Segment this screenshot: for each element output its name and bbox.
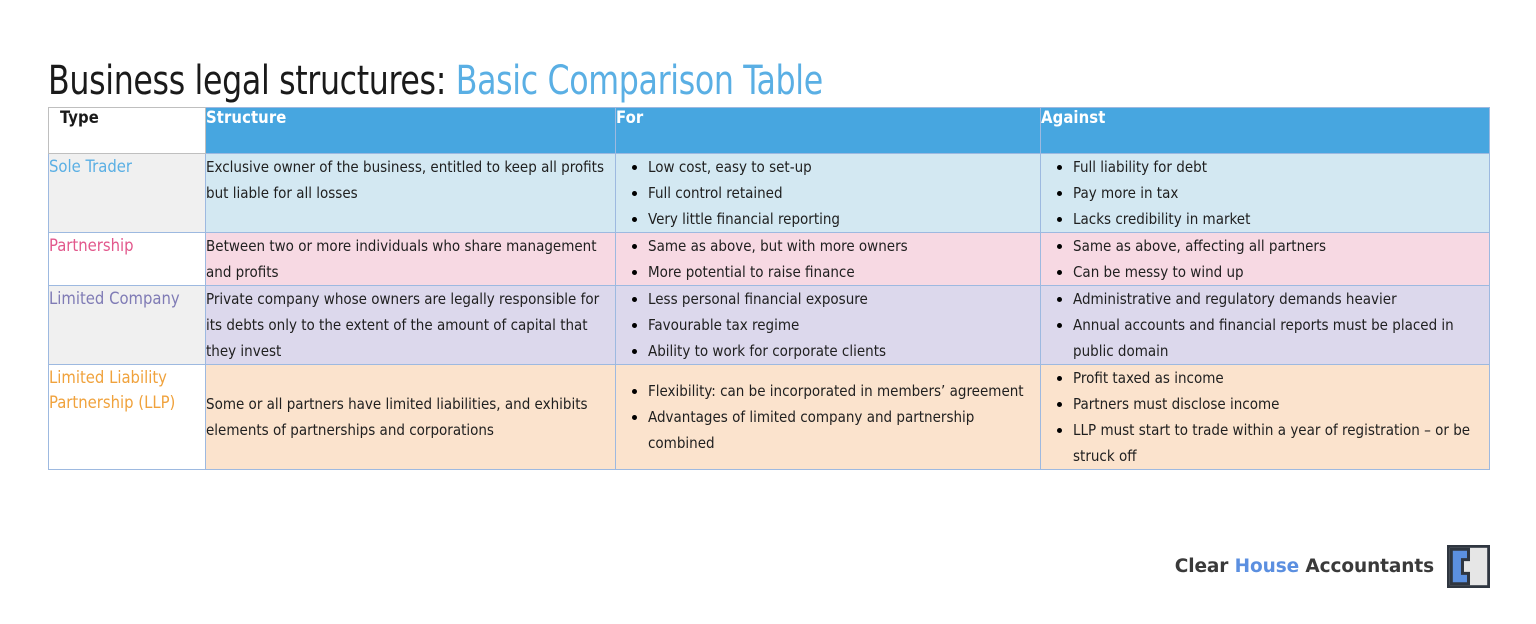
cell-against-partnership: Same as above, affecting all partners Ca… xyxy=(1041,233,1490,286)
list-item: Advantages of limited company and partne… xyxy=(648,404,1040,456)
page-title-highlight: Basic Comparison Table xyxy=(456,58,823,104)
bullet-list: Flexibility: can be incorporated in memb… xyxy=(626,378,1040,456)
list-item: Partners must disclose income xyxy=(1073,391,1489,417)
list-item: Administrative and regulatory demands he… xyxy=(1073,286,1489,312)
list-item: Flexibility: can be incorporated in memb… xyxy=(648,378,1040,404)
cell-for-limited-company: Less personal financial exposure Favoura… xyxy=(616,286,1041,365)
table-header-row: Type Structure For Against xyxy=(49,108,1490,154)
table-row: Sole Trader Exclusive owner of the busin… xyxy=(49,154,1490,233)
bullet-list: Same as above, affecting all partners Ca… xyxy=(1051,233,1489,285)
clear-house-logo-icon xyxy=(1447,545,1490,588)
row-label-text: Limited Liability Partnership (LLP) xyxy=(49,365,205,415)
table-row: Limited Liability Partnership (LLP) Some… xyxy=(49,365,1490,470)
list-item: Same as above, but with more owners xyxy=(648,233,1040,259)
column-header-for: For xyxy=(616,108,1041,154)
structure-text: Some or all partners have limited liabil… xyxy=(206,391,615,443)
brand-name-part2: House xyxy=(1235,556,1299,577)
list-item: Annual accounts and financial reports mu… xyxy=(1073,312,1489,364)
cell-structure-sole-trader: Exclusive owner of the business, entitle… xyxy=(206,154,616,233)
cell-against-limited-company: Administrative and regulatory demands he… xyxy=(1041,286,1490,365)
bullet-list: Low cost, easy to set-up Full control re… xyxy=(626,154,1040,232)
bullet-list: Full liability for debt Pay more in tax … xyxy=(1051,154,1489,232)
cell-structure-limited-company: Private company whose owners are legally… xyxy=(206,286,616,365)
row-label-text: Sole Trader xyxy=(49,154,205,179)
comparison-table: Type Structure For Against Sole Trader E… xyxy=(48,107,1490,470)
list-item: Same as above, affecting all partners xyxy=(1073,233,1489,259)
list-item: Very little financial reporting xyxy=(648,206,1040,232)
cell-structure-llp: Some or all partners have limited liabil… xyxy=(206,365,616,470)
page-title: Business legal structures: Basic Compari… xyxy=(48,55,823,107)
comparison-table-container: Type Structure For Against Sole Trader E… xyxy=(48,107,1489,470)
brand-name-part3: Accountants xyxy=(1299,556,1434,577)
cell-against-sole-trader: Full liability for debt Pay more in tax … xyxy=(1041,154,1490,233)
list-item: Lacks credibility in market xyxy=(1073,206,1489,232)
list-item: More potential to raise finance xyxy=(648,259,1040,285)
cell-for-partnership: Same as above, but with more owners More… xyxy=(616,233,1041,286)
table-row: Limited Company Private company whose ow… xyxy=(49,286,1490,365)
table-header: Type Structure For Against xyxy=(49,108,1490,154)
row-label-sole-trader: Sole Trader xyxy=(49,154,206,233)
column-header-type: Type xyxy=(49,108,206,154)
brand-name: Clear House Accountants xyxy=(1175,556,1434,577)
list-item: Ability to work for corporate clients xyxy=(648,338,1040,364)
bullet-list: Less personal financial exposure Favoura… xyxy=(626,286,1040,364)
list-item: Low cost, easy to set-up xyxy=(648,154,1040,180)
bullet-list: Administrative and regulatory demands he… xyxy=(1051,286,1489,364)
row-label-text: Partnership xyxy=(49,233,205,258)
list-item: Less personal financial exposure xyxy=(648,286,1040,312)
brand-name-part1: Clear xyxy=(1175,556,1235,577)
row-label-text: Limited Company xyxy=(49,286,205,311)
table-row: Partnership Between two or more individu… xyxy=(49,233,1490,286)
structure-text: Private company whose owners are legally… xyxy=(206,286,615,364)
list-item: Profit taxed as income xyxy=(1073,365,1489,391)
row-label-llp: Limited Liability Partnership (LLP) xyxy=(49,365,206,470)
cell-for-llp: Flexibility: can be incorporated in memb… xyxy=(616,365,1041,470)
row-label-partnership: Partnership xyxy=(49,233,206,286)
row-label-limited-company: Limited Company xyxy=(49,286,206,365)
structure-text: Exclusive owner of the business, entitle… xyxy=(206,154,615,206)
structure-text: Between two or more individuals who shar… xyxy=(206,233,615,285)
column-header-against: Against xyxy=(1041,108,1490,154)
list-item: Can be messy to wind up xyxy=(1073,259,1489,285)
page-title-lead: Business legal structures: xyxy=(48,58,456,104)
cell-against-llp: Profit taxed as income Partners must dis… xyxy=(1041,365,1490,470)
list-item: LLP must start to trade within a year of… xyxy=(1073,417,1489,469)
list-item: Full control retained xyxy=(648,180,1040,206)
list-item: Full liability for debt xyxy=(1073,154,1489,180)
table-body: Sole Trader Exclusive owner of the busin… xyxy=(49,154,1490,470)
column-header-structure: Structure xyxy=(206,108,616,154)
bullet-list: Same as above, but with more owners More… xyxy=(626,233,1040,285)
footer-brand: Clear House Accountants xyxy=(1175,545,1490,588)
bullet-list: Profit taxed as income Partners must dis… xyxy=(1051,365,1489,469)
list-item: Pay more in tax xyxy=(1073,180,1489,206)
cell-structure-partnership: Between two or more individuals who shar… xyxy=(206,233,616,286)
cell-for-sole-trader: Low cost, easy to set-up Full control re… xyxy=(616,154,1041,233)
list-item: Favourable tax regime xyxy=(648,312,1040,338)
